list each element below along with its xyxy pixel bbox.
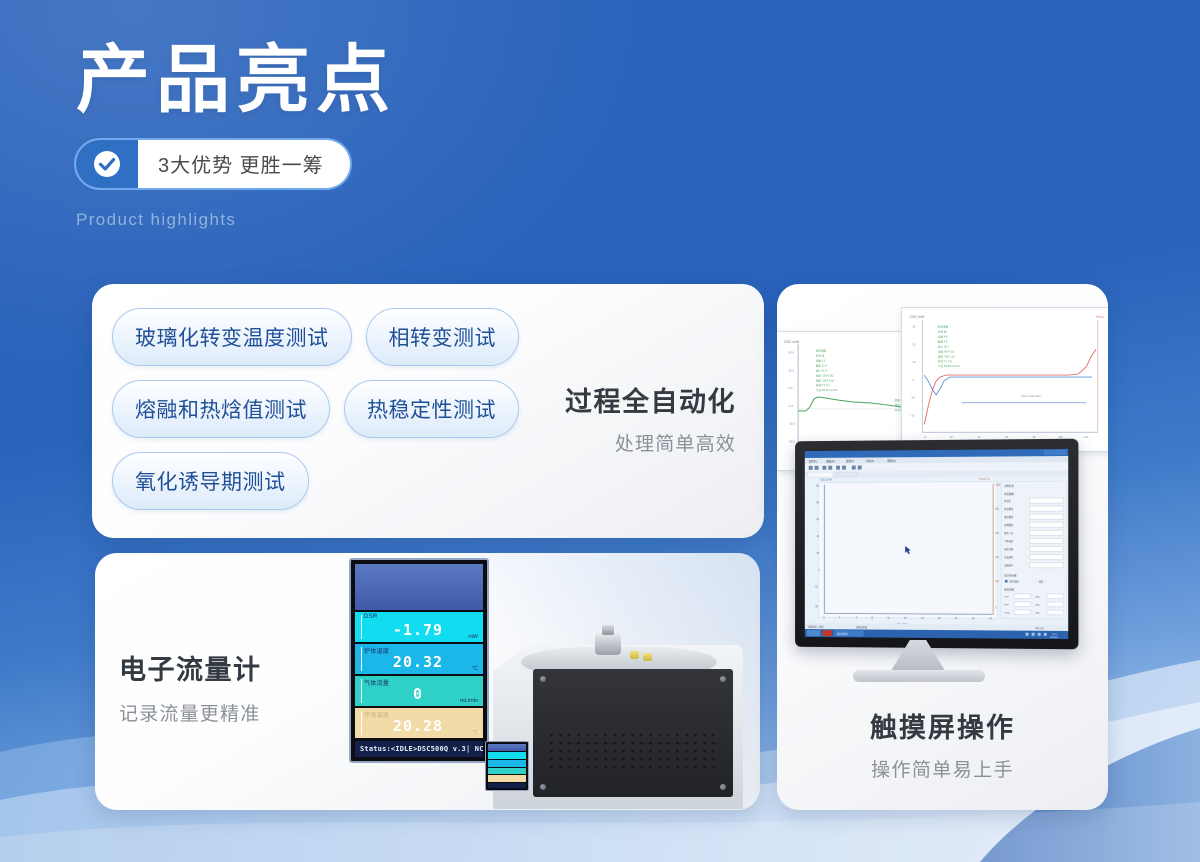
svg-text:样品 7.1 mg: 样品 7.1 mg (938, 359, 952, 363)
instrument-vent-grid (547, 731, 719, 773)
row-divider (361, 711, 362, 735)
svg-text:-10: -10 (910, 396, 914, 400)
instrument-furnace-cap (595, 633, 621, 655)
svg-text:标识参数: 标识参数 (938, 325, 949, 329)
row-divider (361, 679, 362, 703)
mini-display-row (488, 760, 526, 767)
mini-display-header (488, 744, 526, 751)
mini-display-row (488, 768, 526, 775)
feature-pill[interactable]: 玻璃化转变温度测试 (112, 308, 352, 366)
touchscreen-subheading: 操作简单易上手 (777, 755, 1108, 782)
instrument-knob (602, 625, 614, 635)
svg-text:1000: 1000 (995, 485, 1001, 487)
svg-text:10: 10 (912, 360, 916, 364)
svg-text:130: 130 (1084, 435, 1089, 439)
instrument-mini-display[interactable] (485, 741, 529, 791)
svg-text:焓值 -138.6 J/g: 焓值 -138.6 J/g (816, 373, 834, 377)
check-circle-icon (76, 140, 138, 188)
svg-text:DSC /mW: DSC /mW (910, 315, 924, 319)
dsc-chart-b: DSC /mW Temp 3020 100 -10-20 标识参数名称 值 起始… (901, 307, 1108, 452)
svg-text:编辑(E): 编辑(E) (826, 459, 835, 463)
touchscreen-monitor[interactable]: 文件(F)编辑(E) 试验(T)分析(A) 帮助(H) (793, 440, 1089, 694)
svg-text:Onset / Peak value: Onset / Peak value (1021, 395, 1042, 398)
touchscreen-caption: 触摸屏操作 操作简单易上手 (777, 706, 1108, 782)
feature-pill[interactable]: 氧化诱导期测试 (112, 452, 309, 510)
mini-display-row (488, 775, 526, 782)
feature-pill-row: 玻璃化转变温度测试 相转变测试 (112, 308, 562, 366)
panel-screw (540, 676, 546, 682)
svg-text:-20: -20 (910, 413, 914, 417)
flowmeter-subheading: 记录流量更精准 (119, 699, 262, 726)
svg-text:试验信息: 试验信息 (1004, 484, 1014, 488)
svg-text:样品参数: 样品参数 (1004, 492, 1014, 496)
features-caption: 过程全自动化 处理简单高效 (565, 380, 736, 456)
svg-text:5.0: 5.0 (788, 386, 792, 390)
row-divider (361, 615, 362, 639)
monitor-bezel: 文件(F)编辑(E) 试验(T)分析(A) 帮助(H) (795, 439, 1078, 650)
svg-text:名称 值: 名称 值 (938, 330, 947, 334)
touchscreen-card: DSC /mW 25.015.0 5.0-5.0 -15.0-25.0 标识参数… (777, 284, 1108, 810)
row-divider (361, 647, 362, 671)
svg-text:25.0: 25.0 (788, 351, 794, 355)
flowmeter-heading: 电子流量计 (119, 648, 262, 687)
features-card: 玻璃化转变温度测试 相转变测试 熔融和热焓值测试 热稳定性测试 氧化诱导期测试 … (92, 284, 764, 538)
page-header: 产品亮点 3大优势 更胜一筹 Product highlights (76, 42, 396, 230)
feature-pill-row: 氧化诱导期测试 (112, 452, 562, 510)
feature-pill-row: 熔融和热焓值测试 热稳定性测试 (112, 380, 562, 438)
svg-text:文件(F): 文件(F) (809, 459, 817, 463)
svg-text:峰值 12.4: 峰值 12.4 (816, 364, 827, 368)
panel-screw (720, 784, 726, 790)
feature-pill-group: 玻璃化转变温度测试 相转变测试 熔融和热焓值测试 热稳定性测试 氧化诱导期测试 (112, 308, 562, 524)
features-subheading: 处理简单高效 (565, 429, 736, 456)
feature-pill[interactable]: 相转变测试 (366, 308, 520, 366)
svg-text:名称 值: 名称 值 (816, 354, 825, 358)
svg-text:峰值 9.6: 峰值 9.6 (938, 340, 948, 344)
svg-text:气氛 N2 50 mL/min: 气氛 N2 50 mL/min (938, 364, 960, 368)
svg-text:坐标范围: 坐标范围 (1004, 587, 1014, 591)
dsc-instrument-photo (455, 611, 755, 810)
svg-text:DSC /mW: DSC /mW (820, 478, 832, 482)
svg-text:-15.0: -15.0 (788, 422, 795, 426)
page-subtitle-en: Product highlights (76, 210, 396, 230)
advantages-badge: 3大优势 更胜一筹 (76, 140, 350, 188)
svg-text:分析(A): 分析(A) (866, 459, 875, 463)
badge-label: 3大优势 更胜一筹 (138, 140, 350, 188)
monitor-screen[interactable]: 文件(F)编辑(E) 试验(T)分析(A) 帮助(H) (805, 449, 1068, 639)
readout-label: 炉体温度 (364, 646, 389, 655)
svg-text:试验(T): 试验(T) (846, 459, 855, 463)
flowmeter-card: 电子流量计 记录流量更精准 DSR -1.79 mW 炉体温度 20.32 ℃ … (95, 553, 760, 810)
monitor-base (853, 670, 985, 682)
svg-text:帮助(H): 帮助(H) (887, 459, 896, 463)
svg-text:DSC: DSC (1004, 604, 1009, 606)
svg-text:显示坐标轴: 显示坐标轴 (1004, 573, 1017, 577)
svg-text:Temp: Temp (1096, 315, 1104, 319)
svg-text:15.0: 15.0 (788, 368, 794, 372)
feature-pill[interactable]: 热稳定性测试 (344, 380, 519, 438)
svg-text:面积 -782.1 mJ: 面积 -782.1 mJ (938, 354, 956, 358)
touchscreen-heading: 触摸屏操作 (777, 706, 1108, 745)
svg-text:DSC /mW: DSC /mW (784, 340, 800, 344)
svg-text:气氛 N2 50 mL/min: 气氛 N2 50 mL/min (816, 388, 838, 392)
instrument-front-panel (533, 669, 733, 797)
readout-label: DSR (364, 614, 378, 620)
svg-text:Temp /℃: Temp /℃ (979, 477, 990, 481)
readout-label: 环境温度 (364, 710, 389, 719)
svg-text:30: 30 (912, 325, 916, 329)
svg-text:面积 -1024.3 mJ: 面积 -1024.3 mJ (816, 378, 835, 382)
svg-text:终止 41.8: 终止 41.8 (816, 368, 827, 372)
feature-pill[interactable]: 熔融和热焓值测试 (112, 380, 330, 438)
panel-header-strip (355, 564, 483, 610)
svg-text:起始 4.8: 起始 4.8 (938, 335, 948, 339)
svg-text:标识参数: 标识参数 (816, 349, 827, 353)
page-title: 产品亮点 (76, 42, 396, 120)
mini-display-row (488, 752, 526, 759)
svg-text:-5.0: -5.0 (788, 404, 793, 408)
instrument-port (643, 653, 652, 661)
instrument-port (630, 651, 639, 659)
flowmeter-caption: 电子流量计 记录流量更精准 (119, 648, 262, 726)
panel-screw (720, 676, 726, 682)
svg-text:终止 18.2: 终止 18.2 (938, 344, 949, 348)
svg-text:焓值 -96.4 J/g: 焓值 -96.4 J/g (938, 349, 954, 353)
mini-display-status (488, 783, 526, 788)
svg-text:20: 20 (912, 342, 916, 346)
panel-screw (540, 784, 546, 790)
svg-text:起始 5.2: 起始 5.2 (816, 359, 826, 363)
readout-label: 气体流量 (364, 678, 389, 687)
svg-text:NC | V3: NC | V3 (1036, 628, 1045, 630)
svg-text:样品 8.3 mg: 样品 8.3 mg (816, 383, 830, 387)
svg-text:Temp: Temp (1004, 612, 1010, 614)
svg-text:Time: Time (1004, 596, 1010, 598)
features-heading: 过程全自动化 (565, 380, 736, 419)
svg-text:2023/5/9: 2023/5/9 (1050, 637, 1058, 639)
